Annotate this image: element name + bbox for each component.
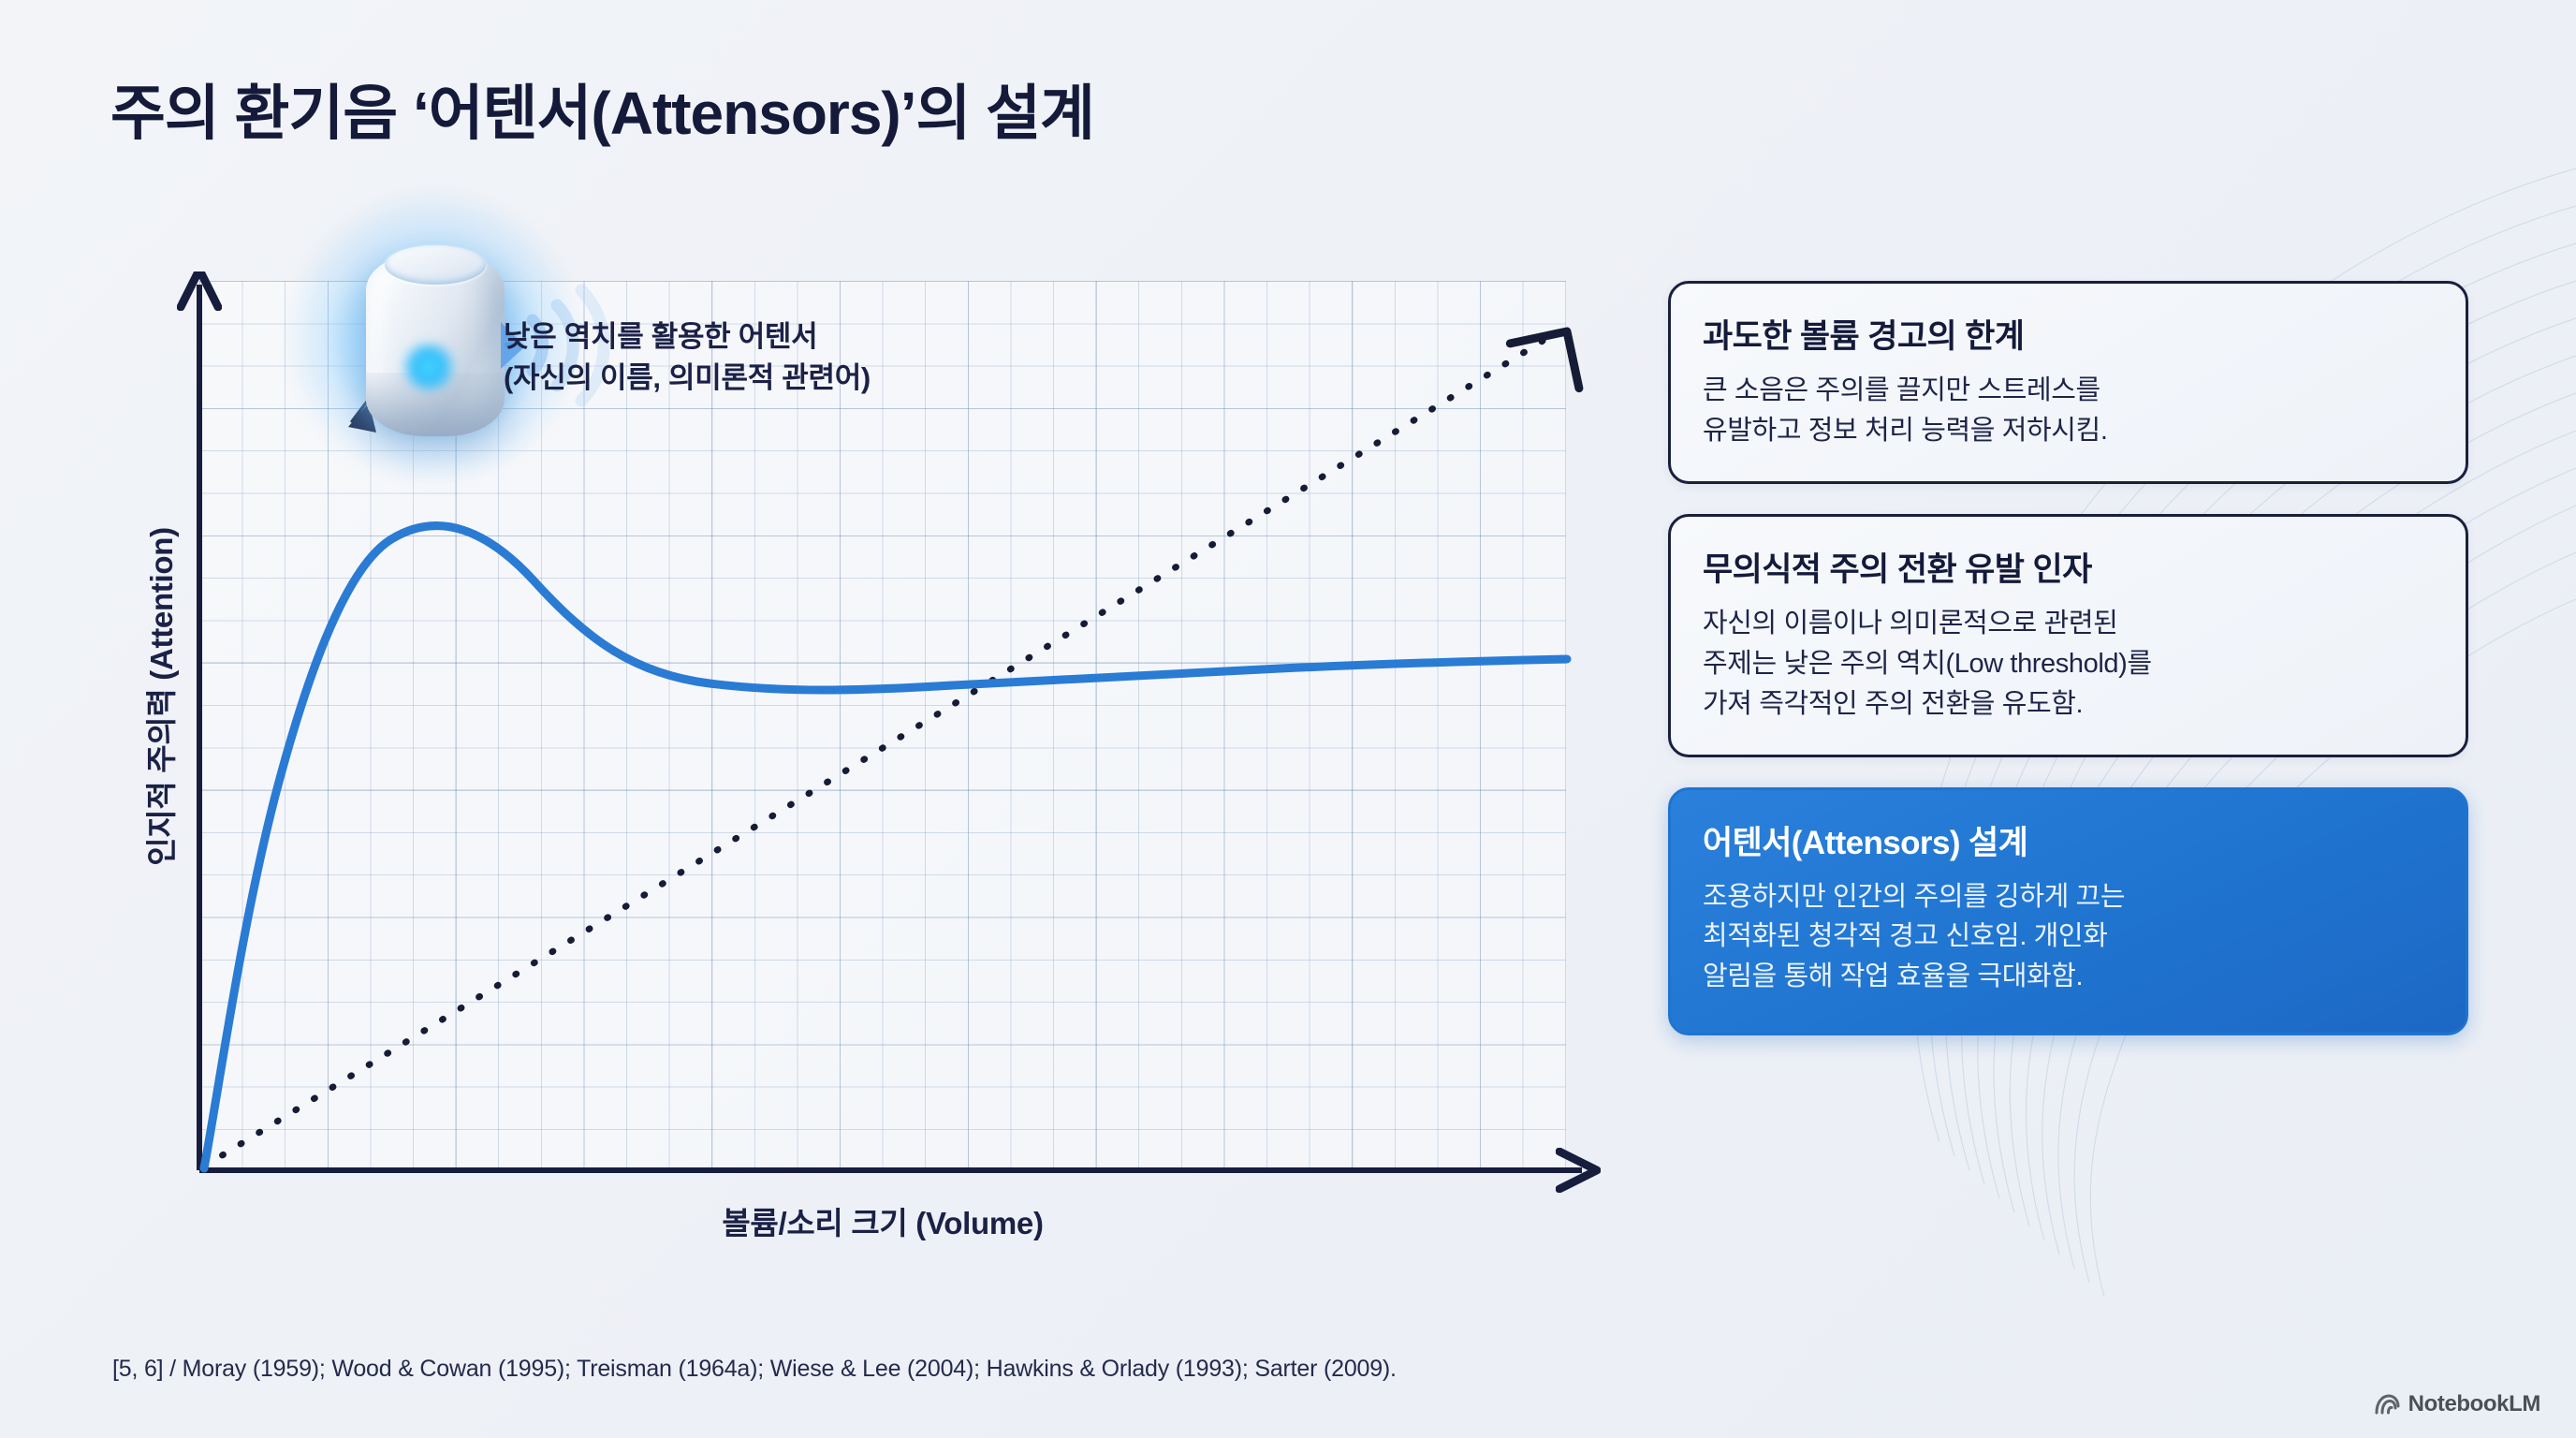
chart-plot-svg xyxy=(110,271,1608,1208)
card-body: 조용하지만 인간의 주의를 깅하게 끄는 최적화된 청각적 경고 신호임. 개인… xyxy=(1703,877,2434,998)
page-title: 주의 환기음 ‘어텐서(Attensors)’의 설계 xyxy=(110,66,1094,152)
notebooklm-logo-icon xyxy=(2374,1393,2400,1416)
notebooklm-brand: NotebookLM xyxy=(2374,1391,2540,1417)
brand-name: NotebookLM xyxy=(2408,1391,2540,1417)
insight-card-unconscious-attention-shift[interactable]: 무의식적 주의 전환 유발 인자 자신의 이름이나 의미론적으로 관련된 주제는… xyxy=(1668,514,2468,757)
card-body: 자신의 이름이나 의미론적으로 관련된 주제는 낮은 주의 역치(Low thr… xyxy=(1703,604,2434,725)
linear-reference-series xyxy=(204,331,1579,1167)
chart-axes xyxy=(199,285,1582,1170)
card-title: 어텐서(Attensors) 설계 xyxy=(1703,816,2434,864)
card-title: 과도한 볼륨 경고의 한계 xyxy=(1703,310,2434,358)
card-title: 무의식적 주의 전환 유발 인자 xyxy=(1703,543,2434,591)
y-axis-label: 인지적 주의력 (Attention) xyxy=(137,453,182,940)
footer-citation: [5, 6] / Moray (1959); Wood & Cowan (199… xyxy=(112,1356,1397,1383)
chart-annotation: 낮은 역치를 활용한 어텐서 (자신의 이름, 의미론적 관련어) xyxy=(504,316,871,399)
x-axis-label: 볼륨/소리 크기 (Volume) xyxy=(199,1198,1566,1243)
card-body: 큰 소음은 주의를 끌지만 스트레스를 유발하고 정보 처리 능력을 저하시킴. xyxy=(1703,371,2434,451)
annotation-leader-line xyxy=(348,345,513,433)
insight-card-list: 과도한 볼륨 경고의 한계 큰 소음은 주의를 끌지만 스트레스를 유발하고 정… xyxy=(1668,281,2468,1035)
chart-annotation-line2: (자신의 이름, 의미론적 관련어) xyxy=(504,358,871,399)
insight-card-attensors-design[interactable]: 어텐서(Attensors) 설계 조용하지만 인간의 주의를 깅하게 끄는 최… xyxy=(1668,787,2468,1036)
insight-card-excessive-volume-limit[interactable]: 과도한 볼륨 경고의 한계 큰 소음은 주의를 끌지만 스트레스를 유발하고 정… xyxy=(1668,281,2468,484)
attention-volume-chart: 낮은 역치를 활용한 어텐서 (자신의 이름, 의미론적 관련어) 인지적 주의… xyxy=(110,271,1608,1208)
chart-annotation-line1: 낮은 역치를 활용한 어텐서 xyxy=(504,316,871,358)
attensors-curve-series xyxy=(204,526,1567,1168)
